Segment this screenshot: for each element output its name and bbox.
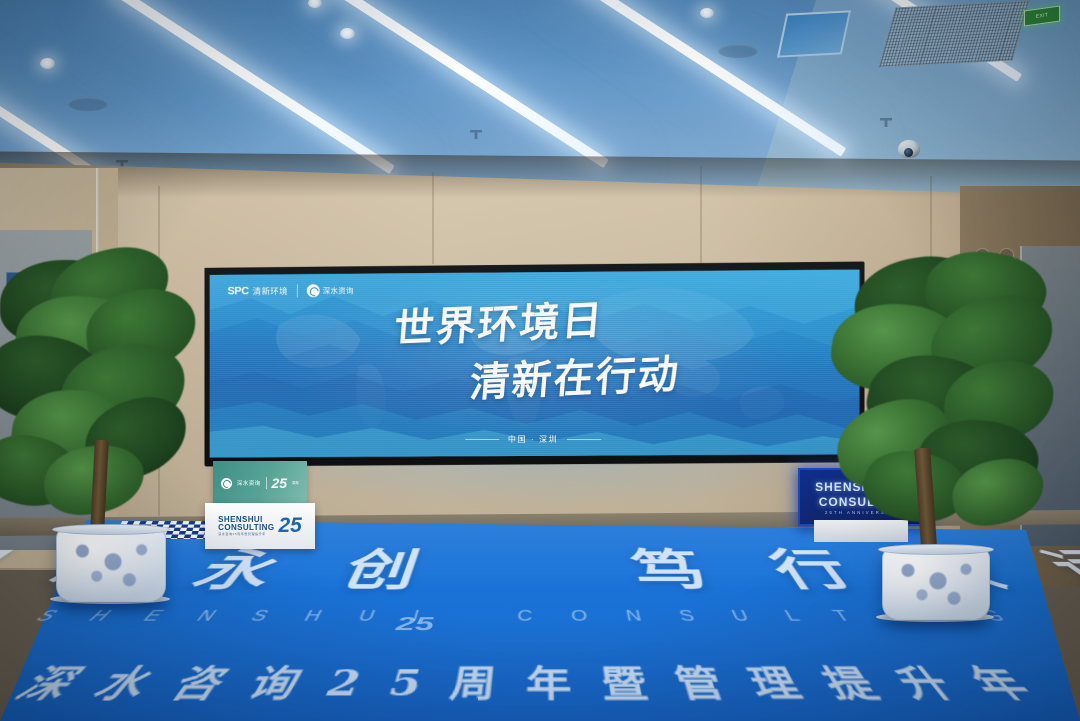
left-planter-rim [52,524,170,535]
podium-left-divider [266,477,267,489]
recessed-downlight [308,0,322,8]
podium-left-anniversary-number: 25 [272,475,288,491]
ceiling-access-panel [777,10,851,57]
subtitle-rule-right [567,439,601,440]
exit-sign-label: EXIT [1036,12,1048,20]
screen-headline: 世界环境日 清新在行动 [210,292,860,405]
wall-seam [432,172,434,264]
right-ficus-tree-canopy [826,252,1056,552]
screen-content: SPC 清新环境 深水资询 世界环境日 清新在行动 中国 · 深圳 [210,270,860,459]
recessed-downlight [340,28,355,39]
hvac-return-grille [878,1,1029,68]
right-planter-rim [878,544,994,555]
podium-left-base-panel: SHENSHUI CONSULTING 深水咨询25周年暨管理提升年 25 [205,503,315,549]
security-camera [898,140,920,158]
shenshui-swoosh-logo-icon [221,478,232,489]
wall-seam [700,166,702,266]
recessed-downlight [700,8,714,18]
podium-left-base-anniversary-number: 25 [278,517,301,536]
podium-left-top-panel: 深水资询 25 周年 [213,461,307,505]
podium-left-company-cn: 深水资询 [237,479,261,487]
lobby-scene-photo: EXIT 深水咨询 SHENSHUI CONSULTING [0,0,1080,721]
linear-led-strip [327,0,609,168]
screen-subtitle-row: 中国 · 深圳 [210,434,860,446]
smoke-detector [68,97,108,111]
left-branded-podium[interactable]: 深水资询 25 周年 SHENSHUI CONSULTING 深水咨询25周年暨… [205,461,315,547]
linear-led-strip [113,0,395,174]
left-porcelain-planter [56,528,166,602]
right-porcelain-planter [882,548,990,620]
podium-left-anniversary-cn: 周年 [292,481,299,485]
led-video-wall[interactable]: SPC 清新环境 深水资询 世界环境日 清新在行动 中国 · 深圳 [205,261,865,467]
podium-left-line-3: 深水咨询25周年暨管理提升年 [218,533,274,536]
recessed-downlight [40,58,55,69]
smoke-detector [718,44,758,58]
floor-anniversary-number: 25 [394,614,453,638]
subtitle-rule-left [465,439,499,440]
sprinkler-head [470,130,482,139]
screen-subtitle: 中国 · 深圳 [508,434,558,445]
